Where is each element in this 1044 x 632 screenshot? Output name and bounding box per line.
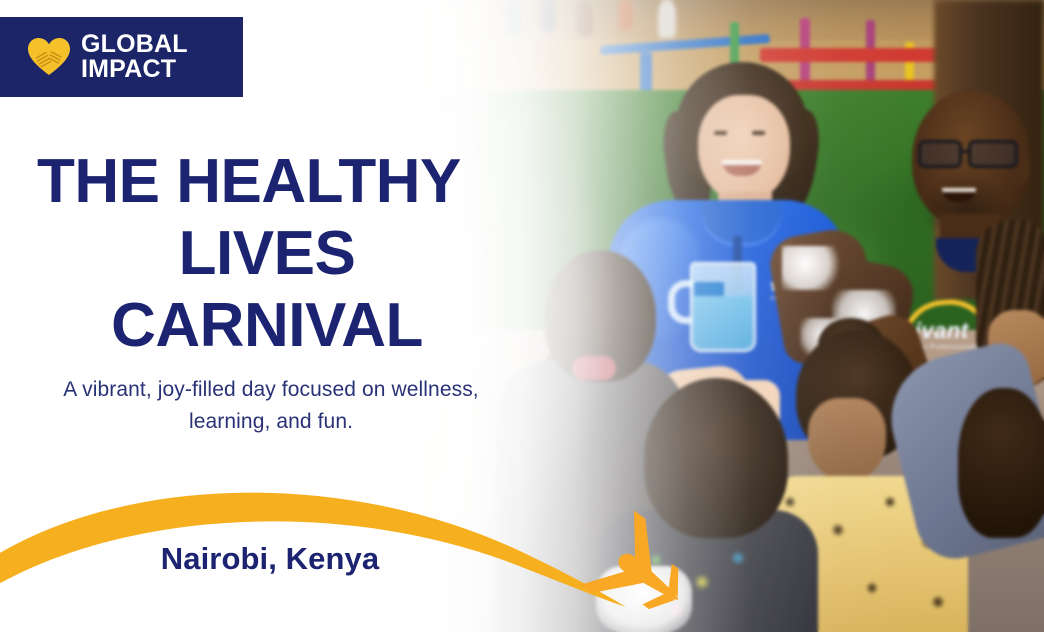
logo-wordmark: GLOBAL IMPACT <box>81 32 188 82</box>
headline-line-2: LIVES <box>37 218 497 290</box>
event-location: Nairobi, Kenya <box>40 540 500 578</box>
logo-line-1: GLOBAL <box>81 30 188 58</box>
subtitle: A vibrant, joy-filled day focused on wel… <box>40 374 502 438</box>
heart-handshake-icon <box>28 38 70 76</box>
logo-line-2: IMPACT <box>81 57 188 82</box>
global-impact-event-banner: vivantAfrican Professionals <box>0 0 1044 632</box>
page-title: THE HEALTHY LIVES CARNIVAL <box>37 146 497 362</box>
global-impact-logo[interactable]: GLOBAL IMPACT <box>0 17 243 97</box>
headline-line-3: CARNIVAL <box>37 290 497 362</box>
airplane-icon <box>580 511 705 632</box>
subtitle-line-1: A vibrant, joy-filled day focused on <box>63 378 385 401</box>
headline-line-1: THE HEALTHY <box>37 146 497 218</box>
